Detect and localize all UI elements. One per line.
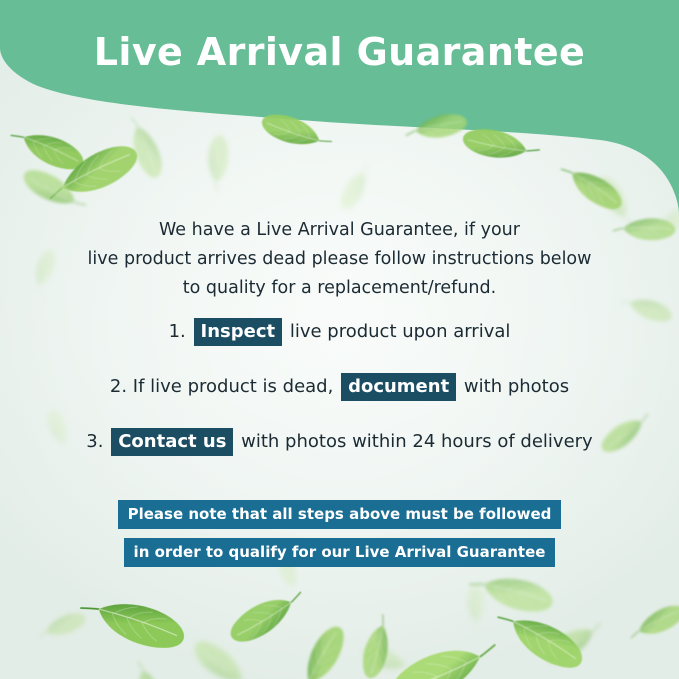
step-keyword-chip: Inspect: [194, 318, 283, 346]
footer-note-row-1: Please note that all steps above must be…: [0, 500, 679, 538]
instruction-steps-list: 1. Inspect live product upon arrival2. I…: [40, 318, 639, 483]
step-text-after: live product upon arrival: [284, 321, 510, 342]
intro-paragraph: We have a Live Arrival Guarantee, if you…: [60, 216, 619, 303]
step-number: 1.: [169, 321, 192, 342]
footer-note-line-1: Please note that all steps above must be…: [118, 500, 562, 529]
footer-note-line-2: in order to qualify for our Live Arrival…: [124, 538, 556, 567]
intro-line-1: We have a Live Arrival Guarantee, if you…: [60, 216, 619, 245]
instruction-step: 1. Inspect live product upon arrival: [40, 318, 639, 373]
instruction-step: 3. Contact us with photos within 24 hour…: [40, 428, 639, 483]
step-number: 2.: [110, 376, 133, 397]
live-arrival-guarantee-poster: Live Arrival Guarantee We have a Live Ar…: [0, 0, 679, 679]
step-text-after: with photos within 24 hours of delivery: [235, 431, 592, 452]
page-title: Live Arrival Guarantee: [0, 30, 679, 74]
step-keyword-chip: Contact us: [111, 428, 233, 456]
footer-note-group: Please note that all steps above must be…: [0, 500, 679, 576]
step-text-after: with photos: [458, 376, 569, 397]
step-number: 3.: [86, 431, 109, 452]
step-text-before: If live product is dead,: [133, 376, 339, 397]
instruction-step: 2. If live product is dead, document wit…: [40, 373, 639, 428]
intro-line-2: live product arrives dead please follow …: [60, 245, 619, 274]
footer-note-row-2: in order to qualify for our Live Arrival…: [0, 538, 679, 576]
leaf-icon: [612, 213, 678, 244]
step-keyword-chip: document: [341, 373, 456, 401]
intro-line-3: to quality for a replacement/refund.: [60, 274, 619, 303]
